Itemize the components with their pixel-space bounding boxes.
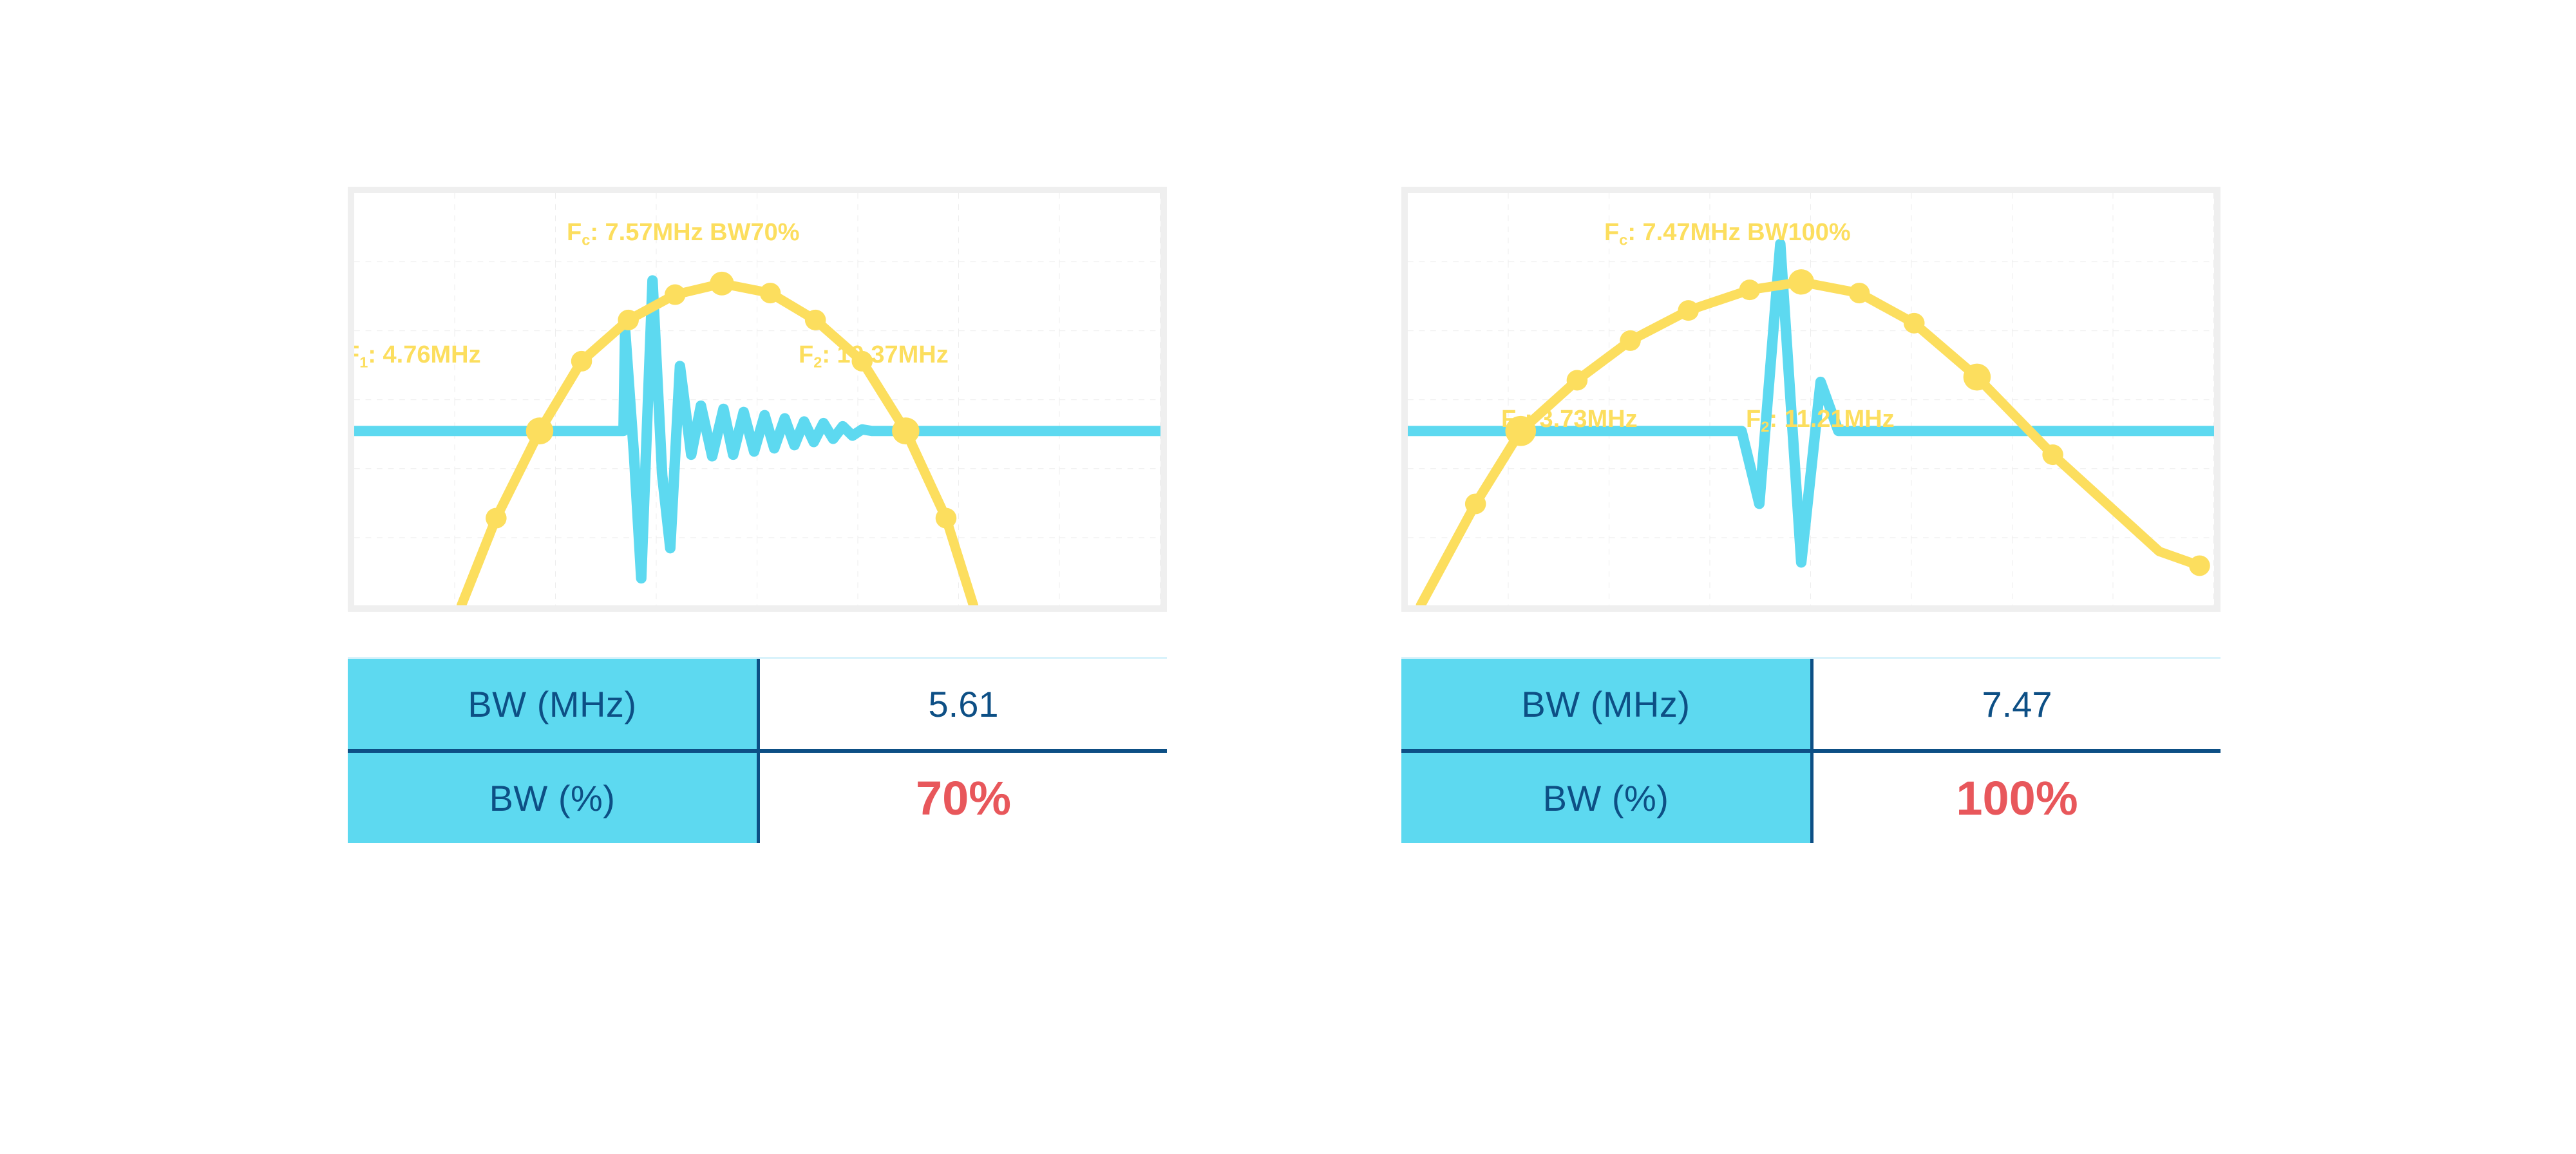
- table-key-bw-mhz: BW (MHz): [348, 659, 760, 749]
- lower-cutoff-symbol: F: [354, 341, 359, 368]
- table-value-bw-mhz: 5.61: [760, 659, 1167, 749]
- lower-cutoff-text: : 4.76MHz: [368, 341, 480, 368]
- center-freq-subscript: c: [582, 232, 590, 249]
- table-value-bw-percent: 70%: [760, 753, 1167, 843]
- upper-cutoff-label-broadband: F2: 11.21MHz: [1746, 406, 1895, 436]
- center-frequency-label-broadband: Fc: 7.47MHz BW100%: [1604, 219, 1851, 249]
- figure-canvas: Fc: 7.57MHz BW70% F1: 4.76MHz F2: 10.37M…: [0, 0, 2576, 1154]
- upper-cutoff-text: : 11.21MHz: [1769, 406, 1894, 433]
- plot-frame-broadband: Fc: 7.47MHz BW100% F1: 3.73MHz F2: 11.21…: [1401, 187, 2221, 612]
- center-frequency-label-narrowband: Fc: 7.57MHz BW70%: [567, 219, 800, 249]
- lower-cutoff-label-narrowband: F1: 4.76MHz: [354, 341, 481, 372]
- grid-narrowband: [354, 193, 1160, 605]
- center-freq-subscript: c: [1619, 232, 1627, 249]
- table-value-bw-mhz: 7.47: [1814, 659, 2221, 749]
- lower-cutoff-text: : 3.73MHz: [1524, 406, 1637, 433]
- center-freq-symbol: F: [567, 219, 582, 246]
- plot-area-narrowband: Fc: 7.57MHz BW70% F1: 4.76MHz F2: 10.37M…: [354, 193, 1160, 605]
- table-key-bw-percent: BW (%): [1401, 753, 1814, 843]
- table-row: BW (%) 100%: [1401, 753, 2221, 843]
- spectrum-chart-narrowband: [354, 193, 1160, 605]
- spectrum-chart-broadband: [1408, 193, 2214, 605]
- upper-cutoff-label-narrowband: F2: 10.37MHz: [799, 341, 949, 372]
- plot-frame-narrowband: Fc: 7.57MHz BW70% F1: 4.76MHz F2: 10.37M…: [348, 187, 1167, 612]
- table-row: BW (MHz) 5.61: [348, 659, 1167, 753]
- bandwidth-table-narrowband: BW (MHz) 5.61 BW (%) 70%: [348, 657, 1167, 843]
- lower-cutoff-subscript: 1: [1516, 419, 1524, 435]
- grid-broadband: [1408, 193, 2214, 605]
- center-freq-text: : 7.47MHz BW100%: [1627, 219, 1850, 246]
- lower-cutoff-label-broadband: F1: 3.73MHz: [1501, 406, 1638, 436]
- panel-narrowband-70: Fc: 7.57MHz BW70% F1: 4.76MHz F2: 10.37M…: [348, 0, 1198, 1154]
- lower-cutoff-symbol: F: [1501, 406, 1516, 433]
- upper-cutoff-text: : 10.37MHz: [822, 341, 948, 368]
- table-row: BW (%) 70%: [348, 753, 1167, 843]
- bandwidth-table-broadband: BW (MHz) 7.47 BW (%) 100%: [1401, 657, 2221, 843]
- table-key-bw-mhz: BW (MHz): [1401, 659, 1814, 749]
- upper-cutoff-symbol: F: [799, 341, 813, 368]
- upper-cutoff-subscript: 2: [1761, 419, 1769, 435]
- table-key-bw-percent: BW (%): [348, 753, 760, 843]
- upper-cutoff-subscript: 2: [813, 354, 822, 371]
- center-freq-text: : 7.57MHz BW70%: [590, 219, 799, 246]
- panel-broadband-100: Fc: 7.47MHz BW100% F1: 3.73MHz F2: 11.21…: [1401, 0, 2251, 1154]
- plot-area-broadband: Fc: 7.47MHz BW100% F1: 3.73MHz F2: 11.21…: [1408, 193, 2214, 605]
- table-value-bw-percent: 100%: [1814, 753, 2221, 843]
- center-freq-symbol: F: [1604, 219, 1619, 246]
- upper-cutoff-symbol: F: [1746, 406, 1761, 433]
- lower-cutoff-subscript: 1: [359, 354, 368, 371]
- table-row: BW (MHz) 7.47: [1401, 659, 2221, 753]
